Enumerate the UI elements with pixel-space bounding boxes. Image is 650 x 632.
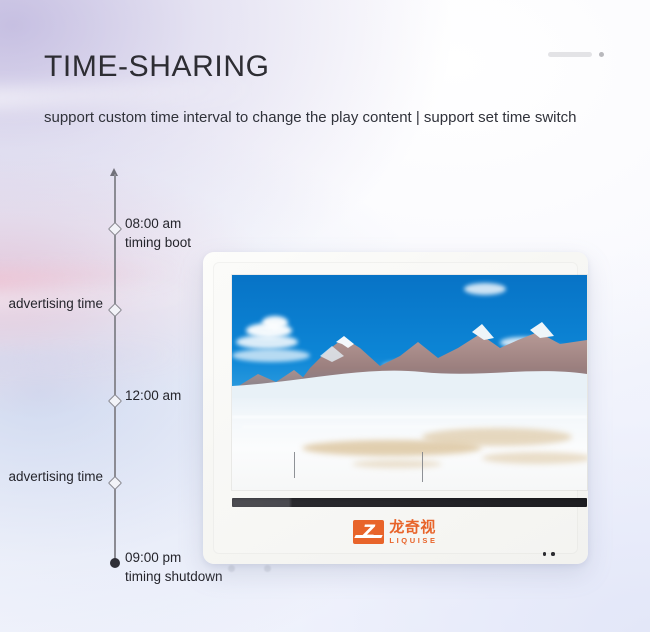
diamond-marker-icon	[108, 303, 122, 317]
device-bezel: Z 龙奇视 LIQUISE	[213, 262, 578, 554]
slide-dot-icon[interactable]	[599, 52, 604, 57]
timeline-axis: 08:00 am timing boot advertising time 12…	[113, 168, 117, 566]
timeline-sub-shutdown: timing shutdown	[125, 567, 223, 586]
timeline-time-boot: 08:00 am	[125, 216, 181, 231]
timeline-label-noon: 12:00 am	[125, 386, 181, 405]
timeline-label-ad-evening: advertising time	[8, 467, 103, 486]
background-streak	[0, 348, 180, 365]
device-screen[interactable]	[232, 275, 587, 490]
brand-wordmark: 龙奇视 LIQUISE	[389, 520, 437, 545]
speaker-grille	[232, 498, 587, 507]
screw-icon	[228, 565, 235, 572]
mountain-range	[232, 282, 587, 412]
timeline-sub-boot: timing boot	[125, 233, 191, 252]
status-led-icon	[543, 552, 547, 556]
diamond-marker-icon	[108, 394, 122, 408]
liquise-mark-icon: Z	[353, 520, 384, 544]
slide-progress-bar[interactable]	[548, 52, 592, 57]
sand-patch	[482, 452, 587, 464]
status-led-icon	[551, 552, 555, 556]
background-streak	[0, 264, 180, 289]
timeline-label-boot: 08:00 am timing boot	[125, 214, 191, 252]
digital-signage-device: Z 龙奇视 LIQUISE	[203, 252, 588, 564]
timeline-tick-noon: 12:00 am	[109, 395, 119, 405]
fence-post	[294, 452, 295, 478]
dot-marker-icon	[110, 558, 120, 568]
background-streak	[0, 81, 260, 107]
diamond-marker-icon	[108, 222, 122, 236]
logo-slash	[355, 535, 383, 538]
sand-patch	[352, 460, 442, 468]
timeline-tick-ad-morning: advertising time	[109, 304, 119, 314]
brand-logo-area: Z 龙奇视 LIQUISE	[213, 520, 578, 545]
sand-patch	[422, 428, 572, 446]
page-title: TIME-SHARING	[44, 50, 270, 84]
slide-pagination[interactable]	[548, 52, 604, 57]
brand-name-cn: 龙奇视	[389, 520, 437, 535]
screw-icon	[264, 565, 271, 572]
slide-canvas: TIME-SHARING support custom time interva…	[0, 0, 650, 632]
brand-name-en: LIQUISE	[389, 537, 437, 545]
snow-ridge	[232, 416, 587, 418]
timeline-tick-boot: 08:00 am timing boot	[109, 223, 119, 233]
timeline-tick-shutdown: 09:00 pm timing shutdown	[109, 557, 119, 567]
page-subtitle: support custom time interval to change t…	[44, 109, 577, 126]
snow-ridge	[242, 426, 492, 428]
fence-post	[422, 452, 423, 482]
wall-mount-screws	[228, 563, 288, 575]
timeline-tick-ad-evening: advertising time	[109, 477, 119, 487]
diamond-marker-icon	[108, 476, 122, 490]
timeline-label-ad-morning: advertising time	[8, 294, 103, 313]
logo-letter: Z	[357, 523, 380, 541]
brand-logo: Z 龙奇视 LIQUISE	[353, 520, 437, 545]
timeline-time-shutdown: 09:00 pm	[125, 550, 181, 565]
status-led-group	[543, 552, 555, 556]
